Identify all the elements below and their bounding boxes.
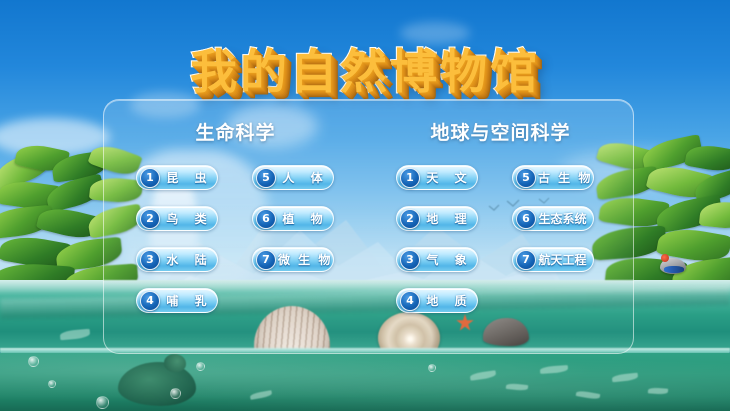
category-number-badge: 6 (256, 209, 276, 229)
sea-turtle (118, 362, 196, 406)
bubble (48, 380, 56, 388)
category-button-earth-1[interactable]: 1 天 文 (396, 165, 478, 190)
category-button-life-4[interactable]: 4 哺 乳 (136, 288, 218, 313)
category-number-badge: 2 (140, 209, 160, 229)
bubble (170, 388, 181, 399)
category-number-badge: 3 (140, 250, 160, 270)
category-label: 鸟 类 (160, 210, 213, 227)
category-number-badge: 7 (516, 250, 536, 270)
category-number-badge: 4 (400, 291, 420, 311)
category-label: 植 物 (276, 210, 329, 227)
category-number-badge: 4 (140, 291, 160, 311)
category-label: 气 象 (420, 251, 473, 268)
category-button-earth-7[interactable]: 7 航天工程 (512, 247, 594, 272)
category-label: 昆 虫 (160, 169, 213, 186)
bubble (28, 356, 39, 367)
category-button-life-5[interactable]: 5 人 体 (252, 165, 334, 190)
cloud (400, 22, 470, 44)
category-button-earth-2[interactable]: 2 地 理 (396, 206, 478, 231)
category-button-earth-6[interactable]: 6 生态系统 (512, 206, 594, 231)
bubble (96, 396, 109, 409)
category-button-life-6[interactable]: 6 植 物 (252, 206, 334, 231)
category-number-badge: 2 (400, 209, 420, 229)
category-label: 微 生 物 (276, 251, 332, 268)
category-button-earth-4[interactable]: 4 地 质 (396, 288, 478, 313)
category-label: 地 理 (420, 210, 473, 227)
category-button-life-7[interactable]: 7 微 生 物 (252, 247, 334, 272)
category-label: 地 质 (420, 292, 473, 309)
category-label: 航天工程 (536, 251, 589, 268)
category-number-badge: 7 (256, 250, 276, 270)
category-label: 生态系统 (536, 210, 589, 227)
category-label: 古 生 物 (536, 169, 592, 186)
category-button-life-1[interactable]: 1 昆 虫 (136, 165, 218, 190)
section-heading-earth-space-science: 地球与空间科学 (368, 118, 633, 145)
category-button-life-3[interactable]: 3 水 陆 (136, 247, 218, 272)
bubble (428, 364, 436, 372)
page-title: 我的自然博物馆 (0, 45, 730, 100)
category-number-badge: 1 (400, 168, 420, 188)
tree-frog (660, 258, 686, 274)
bubble (196, 362, 205, 371)
category-button-life-2[interactable]: 2 鸟 类 (136, 206, 218, 231)
category-label: 人 体 (276, 169, 329, 186)
category-button-earth-5[interactable]: 5 古 生 物 (512, 165, 594, 190)
category-label: 天 文 (420, 169, 473, 186)
category-label: 哺 乳 (160, 292, 213, 309)
category-number-badge: 6 (516, 209, 536, 229)
category-number-badge: 1 (140, 168, 160, 188)
category-number-badge: 5 (516, 168, 536, 188)
category-button-earth-3[interactable]: 3 气 象 (396, 247, 478, 272)
category-number-badge: 3 (400, 250, 420, 270)
category-number-badge: 5 (256, 168, 276, 188)
underwater-background (0, 353, 730, 411)
section-heading-life-science: 生命科学 (103, 118, 368, 145)
poster-stage: 我的自然博物馆 生命科学 1 昆 虫 2 鸟 类 3 水 陆 4 哺 乳 5 人… (0, 0, 730, 411)
category-label: 水 陆 (160, 251, 213, 268)
